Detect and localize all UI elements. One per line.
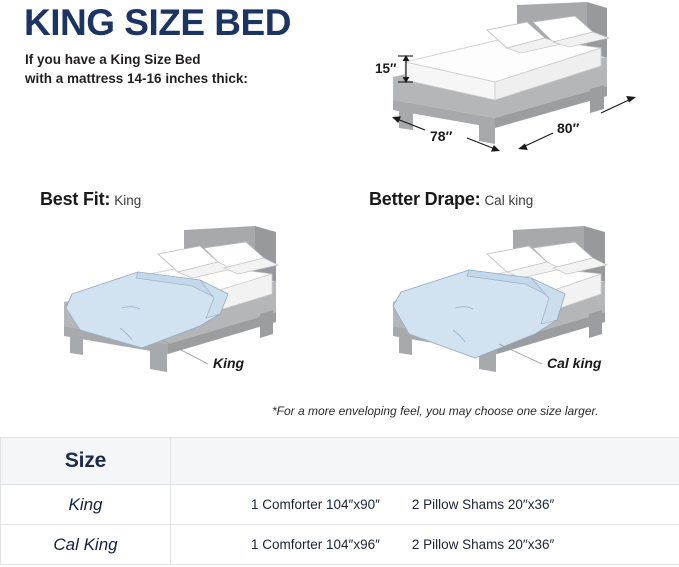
page-title: KING SIZE BED	[24, 4, 291, 43]
spec-shams-king: 2 Pillow Shams 20″x36″	[412, 497, 554, 512]
bed-leg-br-right-bed	[589, 310, 602, 338]
spec-shams-cal-king: 2 Pillow Shams 20″x36″	[412, 537, 554, 552]
table-row: Cal King 1 Comforter 104″x96″ 2 Pillow S…	[1, 525, 679, 565]
table-header: Size	[1, 438, 679, 485]
bed-leg-fr-left-bed	[150, 343, 167, 372]
callout-label-better-drape: Cal king	[547, 355, 602, 371]
subtitle-line-1: If you have a King Size Bed	[25, 50, 355, 69]
size-label-king: King	[1, 495, 170, 515]
heading-better-drape: Better Drape:Cal king	[369, 189, 533, 210]
subtitle-line-2: with a mattress 14-16 inches thick:	[25, 69, 355, 88]
heading-better-drape-value: Cal king	[484, 193, 533, 208]
table-cell-specs-cal-king: 1 Comforter 104″x96″ 2 Pillow Shams 20″x…	[171, 525, 679, 565]
table-header-label-size: Size	[1, 449, 170, 473]
heading-best-fit: Best Fit:King	[40, 189, 141, 210]
bed-leg-front-left	[399, 104, 413, 130]
dimension-label-height: 15″	[375, 61, 397, 76]
length-arrowhead-left	[518, 144, 528, 151]
dimension-label-length: 80″	[557, 120, 580, 136]
heading-best-fit-value: King	[114, 193, 141, 208]
table-header-cell-contents	[171, 438, 679, 485]
callout-label-best-fit: King	[213, 355, 245, 371]
length-arrowhead-right	[626, 96, 636, 103]
bed-leg-back-right	[590, 85, 604, 113]
bed-illustration-best-fit: King	[50, 222, 350, 382]
bed-leg-br-left-bed	[260, 310, 273, 338]
bed-leg-fl-left-bed	[70, 330, 83, 355]
table-body: King 1 Comforter 104″x90″ 2 Pillow Shams…	[1, 485, 679, 565]
dimension-label-width: 78″	[430, 128, 453, 144]
table-cell-specs-king: 1 Comforter 104″x90″ 2 Pillow Shams 20″x…	[171, 485, 679, 525]
spec-group-cal-king: 1 Comforter 104″x96″ 2 Pillow Shams 20″x…	[171, 537, 679, 552]
bed-illustration-better-drape: Cal king	[379, 222, 679, 382]
size-label-cal-king: Cal King	[1, 535, 170, 555]
bed-dimension-diagram: 15″ 78″ 80″	[375, 0, 679, 160]
table-header-row: Size	[1, 438, 679, 485]
footnote-text: *For a more enveloping feel, you may cho…	[272, 404, 598, 418]
spec-group-king: 1 Comforter 104″x90″ 2 Pillow Shams 20″x…	[171, 497, 679, 512]
spec-comforter-cal-king: 1 Comforter 104″x96″	[251, 537, 380, 552]
length-arrow-shaft-left	[523, 133, 553, 147]
table-cell-size-king: King	[1, 485, 171, 525]
page-subtitle: If you have a King Size Bed with a mattr…	[25, 50, 355, 88]
table-row: King 1 Comforter 104″x90″ 2 Pillow Shams…	[1, 485, 679, 525]
heading-best-fit-strong: Best Fit:	[40, 189, 110, 209]
length-arrow-shaft-right	[601, 99, 631, 113]
table-cell-size-cal-king: Cal King	[1, 525, 171, 565]
heading-better-drape-strong: Better Drape:	[369, 189, 480, 209]
bed-leg-front-right	[479, 117, 495, 144]
table-header-cell-size: Size	[1, 438, 171, 485]
size-specification-table: Size King 1 Comforter 104″x90″ 2 Pillow …	[0, 437, 679, 565]
spec-comforter-king: 1 Comforter 104″x90″	[251, 497, 380, 512]
